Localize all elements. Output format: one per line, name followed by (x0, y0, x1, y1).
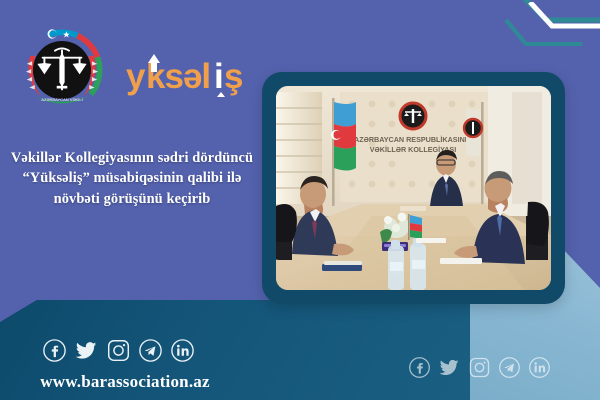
website-url[interactable]: www.barassociation.az (10, 372, 240, 392)
page-title: Vəkillər Kollegiyasının sədri dördüncü “… (6, 148, 258, 209)
meeting-photo: AZƏRBAYCAN RESPUBLİKASININ VƏKİLLƏR KOLL… (276, 86, 551, 290)
azerbaijan-bar-association-emblem: AZƏRBAYCAN VƏKİLİ (18, 26, 106, 114)
emblem-caption: AZƏRBAYCAN VƏKİLİ (41, 97, 82, 102)
linkedin-icon[interactable] (170, 338, 195, 363)
facebook-icon[interactable] (408, 356, 431, 379)
chevron-decoration-inner (498, 18, 590, 58)
telegram-icon[interactable] (138, 338, 163, 363)
news-photo-card: AZƏRBAYCAN RESPUBLİKASININ VƏKİLLƏR KOLL… (262, 72, 565, 304)
svg-text:y: y (126, 57, 146, 96)
svg-text:ş: ş (224, 57, 243, 96)
instagram-icon[interactable] (106, 338, 131, 363)
linkedin-icon[interactable] (528, 356, 551, 379)
svg-text:i: i (214, 57, 223, 96)
facebook-icon[interactable] (42, 338, 67, 363)
twitter-icon[interactable] (438, 356, 461, 379)
social-links-secondary[interactable] (408, 356, 551, 379)
twitter-icon[interactable] (74, 338, 99, 363)
banner-canvas: AZƏRBAYCAN VƏKİLİ y ksəl i ş Vəkillər Ko… (0, 0, 600, 400)
instagram-icon[interactable] (468, 356, 491, 379)
telegram-icon[interactable] (498, 356, 521, 379)
social-links-primary[interactable] (42, 338, 195, 363)
yukselis-wordmark: y ksəl i ş (126, 52, 254, 98)
backdrop-line-1: AZƏRBAYCAN RESPUBLİKASININ (354, 135, 472, 144)
